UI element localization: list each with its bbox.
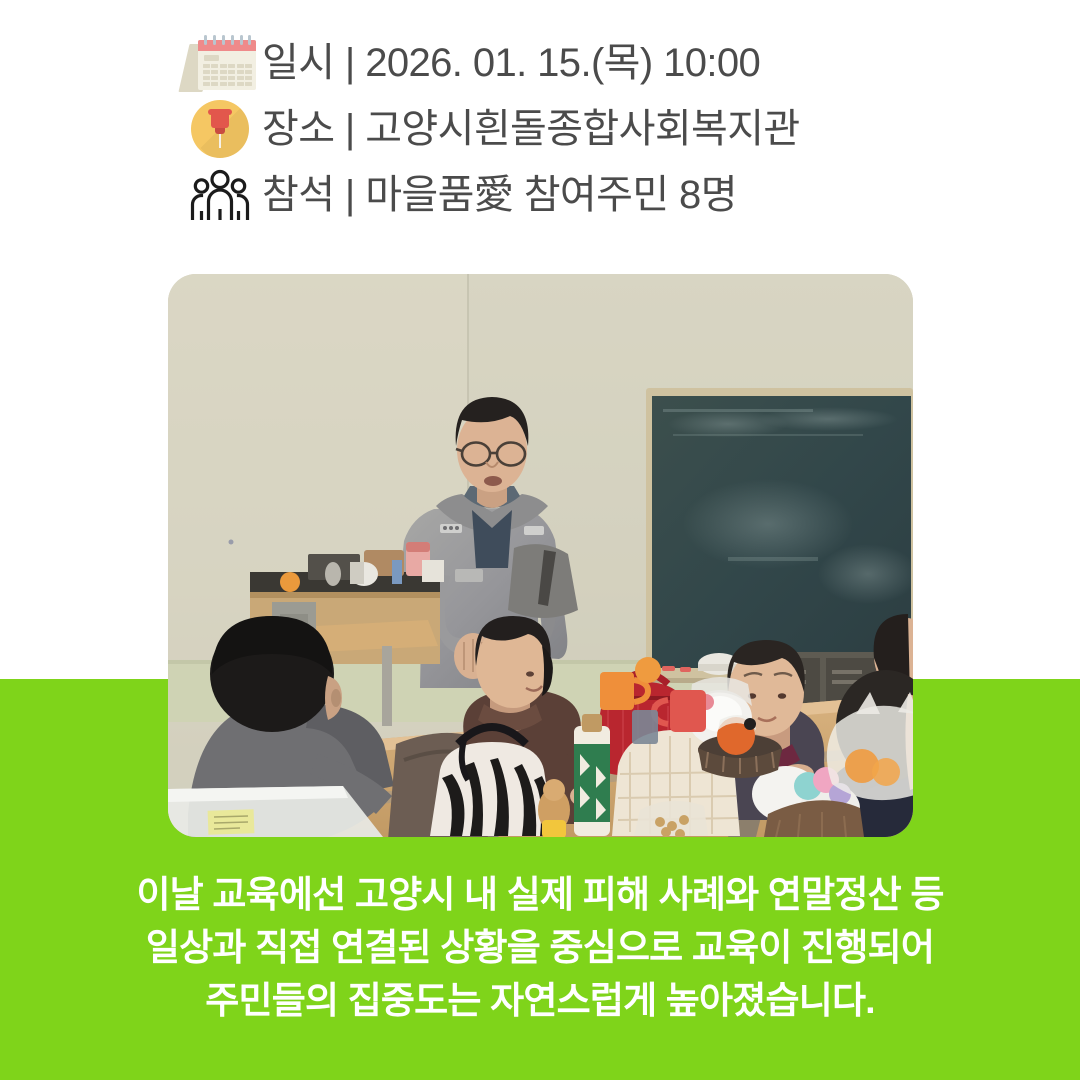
people-group-icon — [189, 169, 251, 221]
calendar-icon-slot — [178, 32, 262, 94]
info-row-datetime: 일시 | 2026. 01. 15.(목) 10:00 — [0, 30, 1080, 96]
info-row-location: 장소 | 고양시흰돌종합사회복지관 — [0, 96, 1080, 162]
info-text-datetime: 일시 | 2026. 01. 15.(목) 10:00 — [262, 41, 760, 85]
info-card: 일시 | 2026. 01. 15.(목) 10:00 장소 | 고양시흰돌종합… — [0, 0, 1080, 1080]
info-text-attendance: 참석 | 마을품愛 참여주민 8명 — [262, 173, 737, 217]
info-row-attendance: 참석 | 마을품愛 참여주민 8명 — [0, 162, 1080, 228]
event-photo — [168, 274, 913, 837]
caption-line-1: 이날 교육에선 고양시 내 실제 피해 사례와 연말정산 등 — [0, 868, 1080, 921]
pushpin-icon — [191, 100, 249, 158]
event-info-block: 일시 | 2026. 01. 15.(목) 10:00 장소 | 고양시흰돌종합… — [0, 30, 1080, 228]
calendar-icon — [182, 34, 258, 92]
info-text-location: 장소 | 고양시흰돌종합사회복지관 — [262, 107, 800, 151]
caption-line-2: 일상과 직접 연결된 상황을 중심으로 교육이 진행되어 — [0, 921, 1080, 974]
people-group-icon-slot — [178, 164, 262, 226]
caption-text: 이날 교육에선 고양시 내 실제 피해 사례와 연말정산 등 일상과 직접 연결… — [0, 868, 1080, 1027]
caption-line-3: 주민들의 집중도는 자연스럽게 높아졌습니다. — [0, 974, 1080, 1027]
pushpin-icon-slot — [178, 98, 262, 160]
